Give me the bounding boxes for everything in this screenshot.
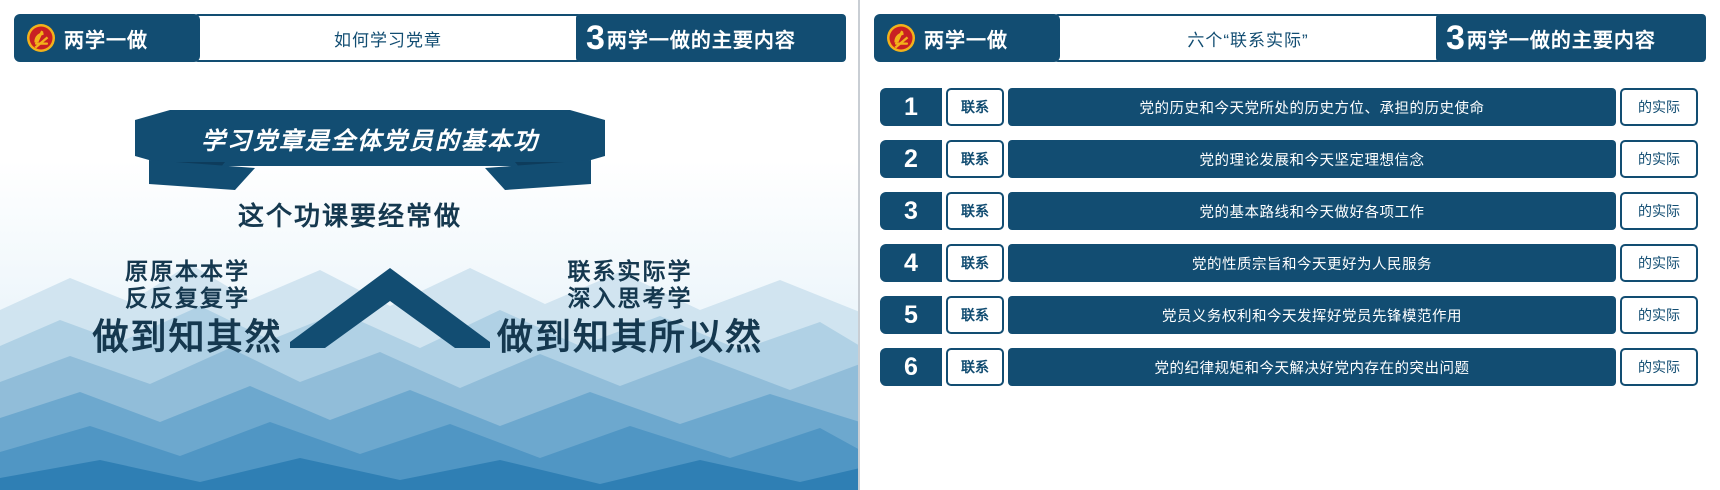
header-logo-label: 两学一做 — [64, 24, 148, 53]
row-tag: 联系 — [946, 296, 1004, 334]
list-item[interactable]: 1 联系 党的历史和今天党所处的历史方位、承担的历史使命 的实际 — [860, 88, 1720, 126]
row-suffix: 的实际 — [1620, 244, 1698, 282]
row-tag: 联系 — [946, 88, 1004, 126]
header-section-number: 3 — [586, 21, 605, 55]
hammer-sickle-emblem-icon — [26, 23, 56, 53]
row-number: 1 — [880, 88, 942, 126]
row-text: 党员义务权利和今天发挥好党员先锋模范作用 — [1008, 296, 1616, 334]
column-left-highlight: 做到知其然 — [35, 314, 340, 359]
row-number: 5 — [880, 296, 942, 334]
column-right-line1: 联系实际学 — [420, 258, 840, 285]
row-text: 党的历史和今天党所处的历史方位、承担的历史使命 — [1008, 88, 1616, 126]
row-tag: 联系 — [946, 348, 1004, 386]
column-left-line1: 原原本本学 — [35, 258, 340, 285]
row-text: 党的理论发展和今天坚定理想信念 — [1008, 140, 1616, 178]
row-tag: 联系 — [946, 244, 1004, 282]
row-text: 党的纪律规矩和今天解决好党内存在的突出问题 — [1008, 348, 1616, 386]
list-item[interactable]: 5 联系 党员义务权利和今天发挥好党员先锋模范作用 的实际 — [860, 296, 1720, 334]
slide-left: 两学一做 如何学习党章 3 两学一做的主要内容 学习党章是全体党员的基本功 这个… — [0, 0, 860, 490]
column-right-highlight: 做到知其所以然 — [420, 314, 840, 359]
header-logo-label: 两学一做 — [924, 24, 1008, 53]
row-tag: 联系 — [946, 192, 1004, 230]
header-section: 3 两学一做的主要内容 — [576, 14, 846, 62]
list-item[interactable]: 6 联系 党的纪律规矩和今天解决好党内存在的突出问题 的实际 — [860, 348, 1720, 386]
header-section: 3 两学一做的主要内容 — [1436, 14, 1706, 62]
header-section-label: 两学一做的主要内容 — [1467, 24, 1656, 53]
row-suffix: 的实际 — [1620, 348, 1698, 386]
slide-right: 两学一做 六个“联系实际” 3 两学一做的主要内容 1 联系 党的历史和今天党所… — [860, 0, 1720, 490]
row-tag: 联系 — [946, 140, 1004, 178]
row-number: 6 — [880, 348, 942, 386]
ribbon-banner: 学习党章是全体党员的基本功 — [135, 110, 605, 195]
ribbon-text: 学习党章是全体党员的基本功 — [135, 110, 605, 166]
header-bar: 两学一做 六个“联系实际” 3 两学一做的主要内容 — [874, 14, 1706, 62]
slide-deck: 两学一做 如何学习党章 3 两学一做的主要内容 学习党章是全体党员的基本功 这个… — [0, 0, 1720, 490]
header-section-number: 3 — [1446, 21, 1465, 55]
header-subject: 六个“联系实际” — [1054, 14, 1442, 62]
list-item[interactable]: 2 联系 党的理论发展和今天坚定理想信念 的实际 — [860, 140, 1720, 178]
subtitle-text: 这个功课要经常做 — [0, 196, 700, 233]
list-item[interactable]: 3 联系 党的基本路线和今天做好各项工作 的实际 — [860, 192, 1720, 230]
column-right: 联系实际学 深入思考学 做到知其所以然 — [420, 258, 840, 359]
content-list: 1 联系 党的历史和今天党所处的历史方位、承担的历史使命 的实际 2 联系 党的… — [860, 88, 1720, 400]
header-logo: 两学一做 — [14, 14, 200, 62]
row-number: 2 — [880, 140, 942, 178]
row-suffix: 的实际 — [1620, 140, 1698, 178]
header-subject-label: 六个“联系实际” — [1187, 26, 1308, 51]
row-suffix: 的实际 — [1620, 296, 1698, 334]
column-left: 原原本本学 反反复复学 做到知其然 — [35, 258, 340, 359]
row-text: 党的基本路线和今天做好各项工作 — [1008, 192, 1616, 230]
row-suffix: 的实际 — [1620, 192, 1698, 230]
hammer-sickle-emblem-icon — [886, 23, 916, 53]
row-suffix: 的实际 — [1620, 88, 1698, 126]
list-item[interactable]: 4 联系 党的性质宗旨和今天更好为人民服务 的实际 — [860, 244, 1720, 282]
header-bar: 两学一做 如何学习党章 3 两学一做的主要内容 — [14, 14, 846, 62]
row-text: 党的性质宗旨和今天更好为人民服务 — [1008, 244, 1616, 282]
header-subject-label: 如何学习党章 — [334, 26, 442, 51]
column-right-line2: 深入思考学 — [420, 285, 840, 312]
column-left-line2: 反反复复学 — [35, 285, 340, 312]
row-number: 4 — [880, 244, 942, 282]
header-logo: 两学一做 — [874, 14, 1060, 62]
row-number: 3 — [880, 192, 942, 230]
header-subject: 如何学习党章 — [194, 14, 582, 62]
header-section-label: 两学一做的主要内容 — [607, 24, 796, 53]
